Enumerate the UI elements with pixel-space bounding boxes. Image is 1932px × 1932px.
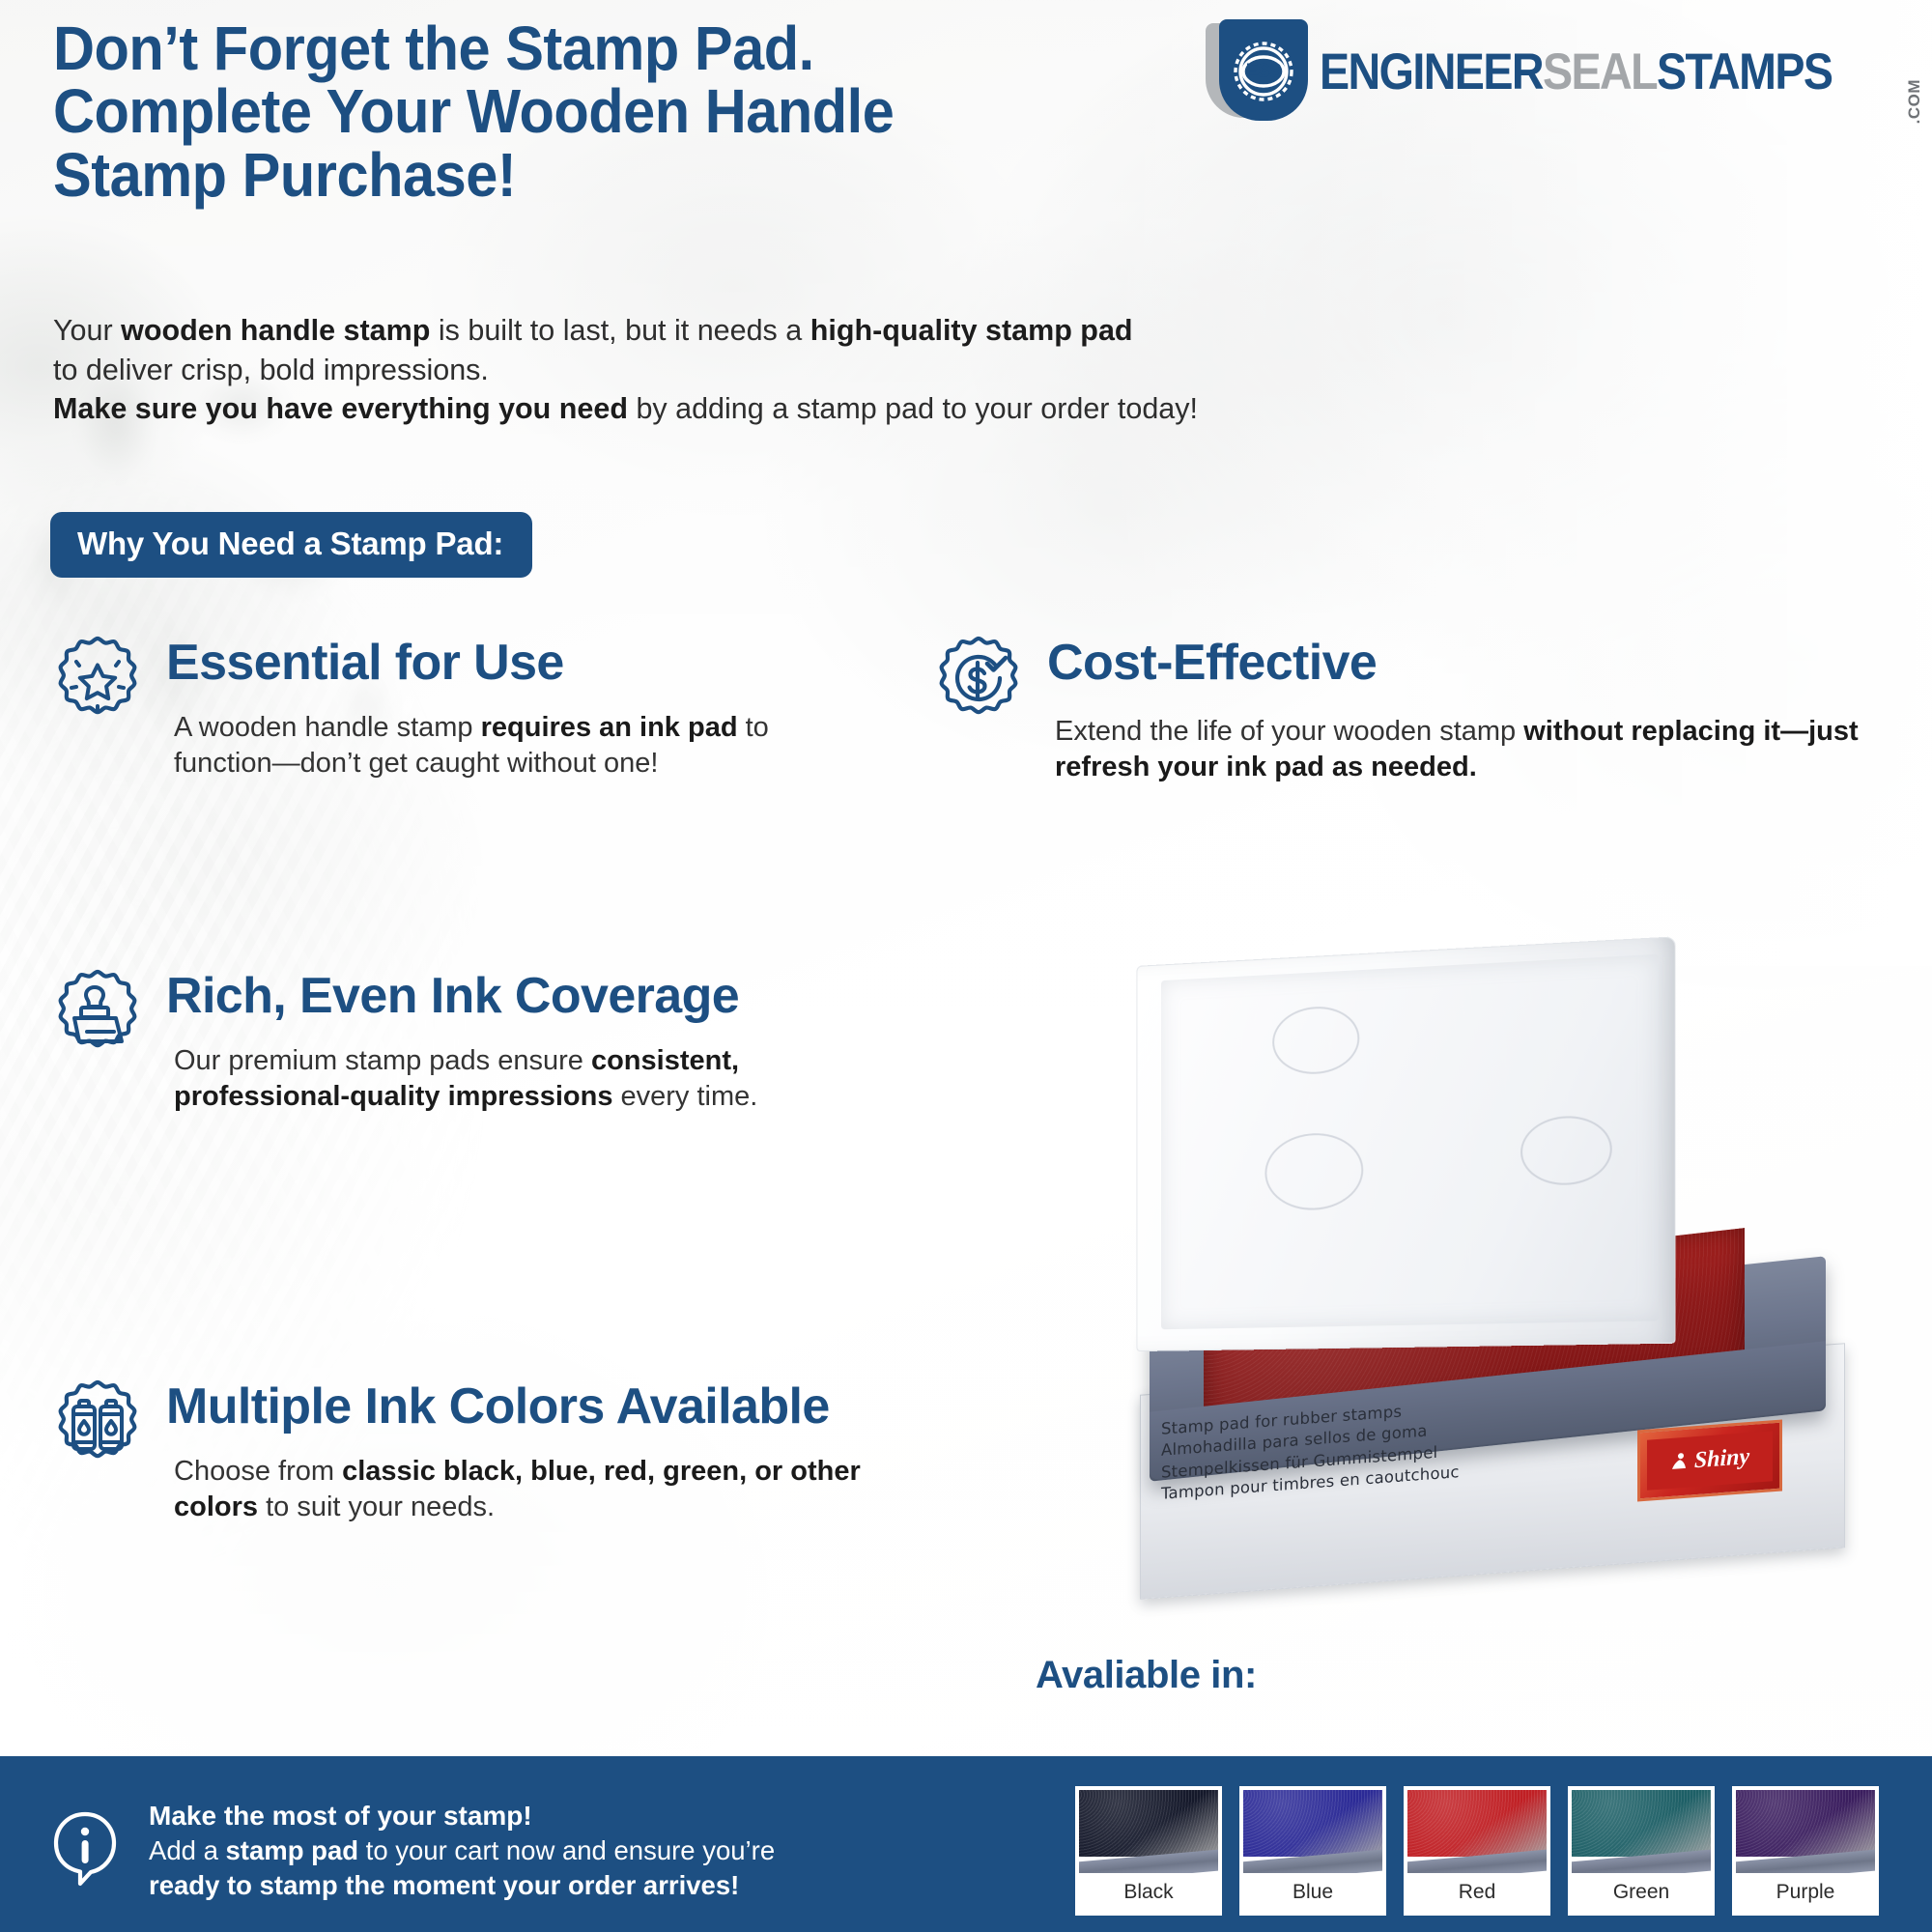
rubber-stamp-badge-icon [46,966,149,1068]
available-in-title: Avaliable in: [1036,1654,1257,1697]
brand-logo[interactable]: ESS ENGINEER SEAL STAMPS .COM [1206,19,1924,124]
feature-text-part-a: A wooden handle stamp [174,712,481,743]
logo-word-stamps: STAMPS [1657,46,1832,98]
swatch-label: Green [1572,1873,1711,1912]
intro-text-2: is built to last, but it needs a [430,314,810,347]
feature-text-part-c: every time. [612,1081,757,1112]
ink-bottles-badge-icon [46,1377,149,1479]
feature-title: Cost-Effective [1047,637,1866,689]
swatch-ink-surface [1243,1790,1382,1857]
feature-text: Extend the life of your wooden stamp wit… [1055,714,1866,785]
lid-emboss-circle-2 [1264,1131,1363,1211]
ink-color-swatch[interactable]: Green [1565,1783,1718,1918]
intro-paragraph: Your wooden handle stamp is built to las… [53,311,1724,429]
swatch-photo [1736,1790,1875,1873]
intro-line-2: to deliver crisp, bold impressions. [53,351,1724,390]
feature-essential-for-use: Essential for Use A wooden handle stamp … [46,633,819,781]
swatch-photo [1407,1790,1547,1873]
star-badge-icon [46,633,149,735]
feature-text-part-a: Our premium stamp pads ensure [174,1045,591,1076]
logo-monogram: ESS [1231,35,1296,108]
intro-text-1: Your [53,314,121,347]
swatch-ink-surface [1407,1790,1547,1857]
lid-emboss-circle-3 [1520,1115,1612,1186]
ink-color-swatch-row: BlackBlueRedGreenPurple [1072,1783,1882,1918]
cta-line-3: ready to stamp the moment your order arr… [149,1868,775,1903]
swatch-ink-surface [1736,1790,1875,1857]
swatch-photo [1572,1790,1711,1873]
ink-color-swatch[interactable]: Blue [1236,1783,1389,1918]
swatch-photo [1243,1790,1382,1873]
logo-wordmark: ENGINEER SEAL STAMPS [1320,46,1832,98]
feature-text: Our premium stamp pads ensure consistent… [174,1043,773,1115]
headline-line-1: Don’t Forget the Stamp Pad. [53,17,1221,80]
intro-text-3: by adding a stamp pad to your order toda… [628,392,1198,425]
cta-line-2: Add a stamp pad to your cart now and ens… [149,1833,775,1868]
feature-text-part-b: requires an ink pad [481,712,738,743]
shiny-brand-logo: Shiny [1637,1419,1782,1501]
feature-title: Rich, Even Ink Coverage [166,970,773,1022]
swatch-label: Black [1079,1873,1218,1912]
swatch-ink-surface [1079,1790,1218,1857]
swatch-label: Purple [1736,1873,1875,1912]
logo-tld: .COM [1905,79,1924,124]
ink-color-swatch[interactable]: Red [1401,1783,1553,1918]
ink-color-swatch[interactable]: Purple [1729,1783,1882,1918]
stamp-pad-lid-inner [1161,954,1659,1330]
feature-text-part-a: Extend the life of your wooden stamp [1055,716,1523,747]
intro-bold-2: high-quality stamp pad [810,314,1133,347]
cta-text: Make the most of your stamp! Add a stamp… [149,1799,775,1903]
shiny-wordmark: Shiny [1694,1444,1749,1474]
feature-cost-effective: Cost-Effective Extend the life of your w… [927,633,1797,785]
page-headline: Don’t Forget the Stamp Pad. Complete You… [53,17,1309,207]
logo-badge-shield: ESS [1206,19,1320,124]
feature-text-part-c: to suit your needs. [258,1492,495,1522]
feature-rich-even-ink-coverage: Rich, Even Ink Coverage Our premium stam… [46,966,781,1115]
swatch-photo [1079,1790,1218,1873]
why-you-need-badge: Why You Need a Stamp Pad: [50,512,532,578]
logo-word-seal: SEAL [1543,46,1657,98]
swatch-label: Blue [1243,1873,1382,1912]
swatch-ink-surface [1572,1790,1711,1857]
stamp-pad-product-photo: C·S Stamp pad for rubber stamps Almohadi… [1111,952,1874,1628]
cta-line-2-part-b: stamp pad [226,1835,359,1865]
info-bubble-icon [48,1808,122,1889]
feature-multiple-ink-colors: Multiple Ink Colors Available Choose fro… [46,1377,877,1525]
ink-color-swatch[interactable]: Black [1072,1783,1225,1918]
stamp-pad-lid [1136,936,1675,1351]
dollar-check-badge-icon [927,633,1030,735]
shiny-stamp-mark-icon [1670,1451,1690,1475]
feature-title: Multiple Ink Colors Available [166,1380,937,1433]
headline-line-3: Stamp Purchase! [53,144,1221,207]
feature-text: A wooden handle stamp requires an ink pa… [174,710,819,781]
feature-text: Choose from classic black, blue, red, gr… [174,1454,937,1525]
feature-title: Essential for Use [166,637,819,689]
cta-line-1: Make the most of your stamp! [149,1799,775,1833]
swatch-label: Red [1407,1873,1547,1912]
intro-bold-3: Make sure you have everything you need [53,392,628,425]
lid-emboss-circle-1 [1272,1005,1359,1076]
cta-block: Make the most of your stamp! Add a stamp… [48,1799,775,1903]
feature-text-part-a: Choose from [174,1456,342,1487]
cta-line-2-part-c: to your cart now and ensure you’re [358,1835,775,1865]
headline-line-2: Complete Your Wooden Handle [53,80,1221,143]
logo-word-engineer: ENGINEER [1320,46,1543,98]
shiny-logo-inner: Shiny [1647,1431,1773,1490]
cta-line-2-part-a: Add a [149,1835,226,1865]
intro-bold-1: wooden handle stamp [121,314,430,347]
